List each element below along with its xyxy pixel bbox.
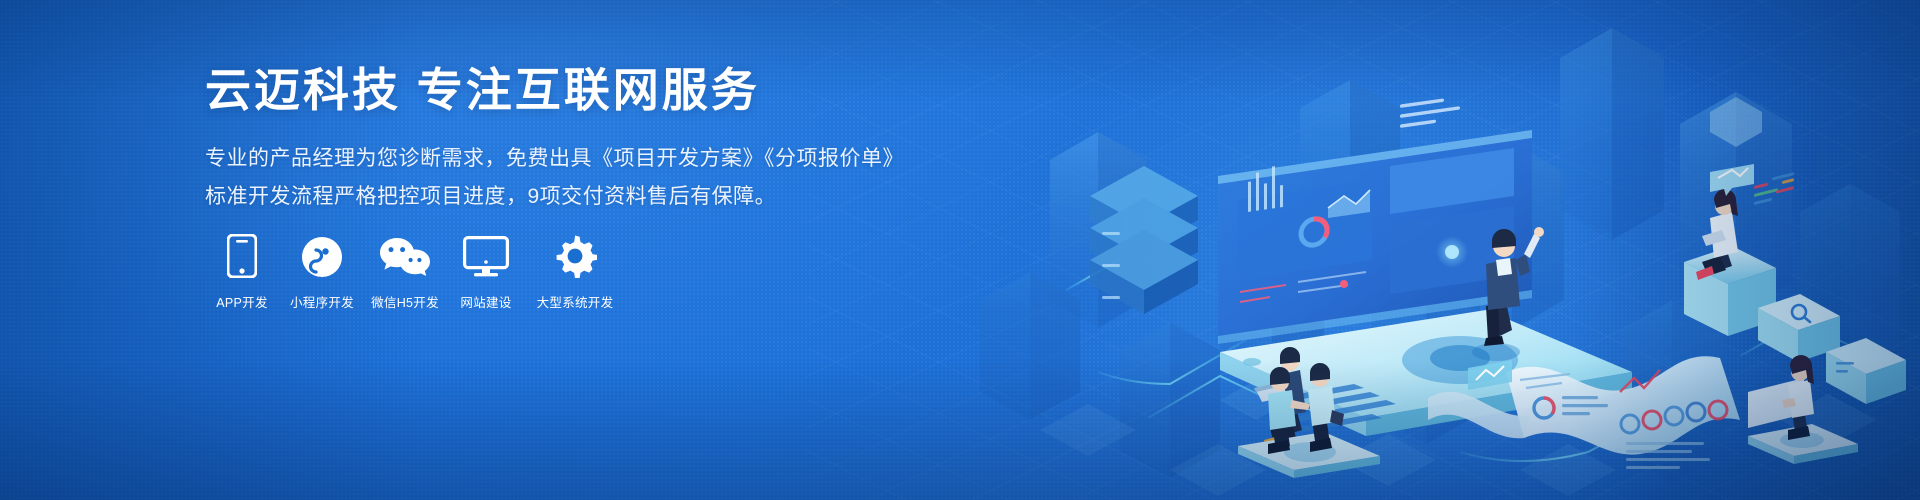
page-title: 云迈科技 专注互联网服务	[205, 62, 925, 120]
hero-content: 云迈科技 专注互联网服务 专业的产品经理为您诊断需求，免费出具《项目开发方案》《…	[205, 62, 925, 217]
subtitle-line-2: 标准开发流程严格把控项目进度，9项交付资料售后有保障。	[205, 178, 925, 217]
service-item-large-system[interactable]: 大型系统开发	[527, 232, 623, 311]
subtitle-line-1: 专业的产品经理为您诊断需求，免费出具《项目开发方案》《分项报价单》	[205, 140, 925, 179]
mobile-phone-icon	[227, 232, 257, 278]
service-item-mini-program[interactable]: 小程序开发	[283, 232, 361, 311]
service-label: 网站建设	[460, 292, 511, 311]
hero-subtitle: 专业的产品经理为您诊断需求，免费出具《项目开发方案》《分项报价单》 标准开发流程…	[205, 140, 925, 218]
service-item-wechat-h5[interactable]: 微信H5开发	[365, 232, 445, 311]
service-label: APP开发	[216, 292, 268, 311]
service-label: 小程序开发	[290, 292, 354, 311]
service-item-website[interactable]: 网站建设	[449, 232, 523, 311]
mini-program-icon	[301, 232, 343, 278]
monitor-icon	[463, 232, 509, 278]
service-label: 大型系统开发	[537, 292, 614, 311]
gear-icon	[553, 232, 597, 278]
service-item-app[interactable]: APP开发	[205, 232, 279, 311]
wechat-icon	[379, 232, 431, 278]
service-label: 微信H5开发	[371, 292, 439, 311]
service-list: APP开发 小程序开发	[205, 232, 627, 311]
hero-banner: 云迈科技 专注互联网服务 专业的产品经理为您诊断需求，免费出具《项目开发方案》《…	[0, 0, 1920, 500]
